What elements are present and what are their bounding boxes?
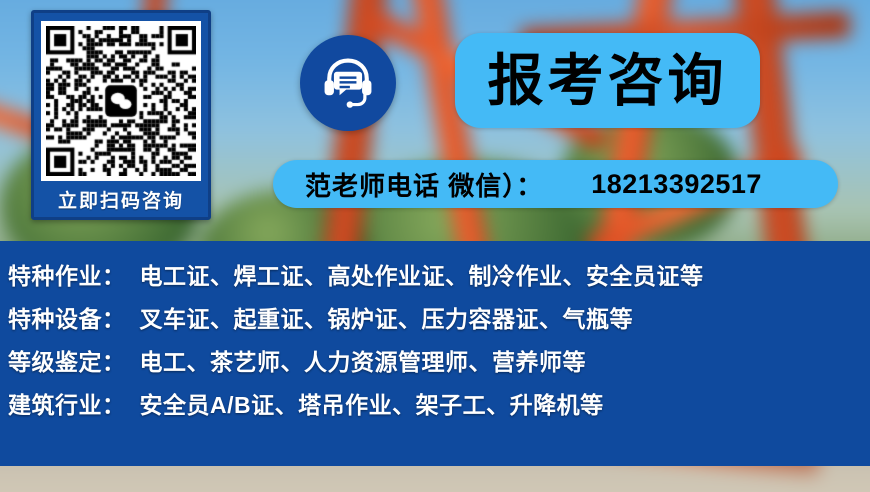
certificate-list-panel: 特种作业： 电工证、焊工证、高处作业证、制冷作业、安全员证等 特种设备： 叉车证… — [0, 241, 870, 466]
info-row-special-equipment: 特种设备： 叉车证、起重证、锅炉证、压力容器证、气瓶等 — [8, 300, 870, 334]
info-row-construction-industry: 建筑行业： 安全员A/B证、塔吊作业、架子工、升降机等 — [8, 386, 870, 420]
info-row-value: 电工、茶艺师、人力资源管理师、营养师等 — [140, 343, 587, 377]
page-title: 报考咨询 — [488, 53, 728, 109]
info-row-label: 建筑行业： — [8, 386, 126, 420]
info-row-label: 特种设备： — [8, 300, 126, 334]
contact-pill[interactable]: 范老师电话 微信）： 18213392517 — [273, 160, 838, 208]
headset-chat-icon — [300, 35, 396, 131]
promo-banner: 立即扫码咨询 报考咨询 范老师电话 微信）： 18213392517 特种作业：… — [0, 0, 870, 492]
info-row-label: 特种作业： — [8, 257, 126, 291]
contact-phone-number[interactable]: 18213392517 — [591, 169, 762, 200]
qr-code-card[interactable]: 立即扫码咨询 — [31, 10, 211, 220]
qr-code-image[interactable] — [41, 21, 201, 181]
info-row-label: 等级鉴定： — [8, 343, 126, 377]
title-pill: 报考咨询 — [455, 33, 760, 128]
info-row-value: 电工证、焊工证、高处作业证、制冷作业、安全员证等 — [140, 257, 704, 291]
qr-caption: 立即扫码咨询 — [58, 181, 184, 217]
info-row-special-operations: 特种作业： 电工证、焊工证、高处作业证、制冷作业、安全员证等 — [8, 257, 870, 291]
info-row-grade-assessment: 等级鉴定： 电工、茶艺师、人力资源管理师、营养师等 — [8, 343, 870, 377]
info-row-value: 叉车证、起重证、锅炉证、压力容器证、气瓶等 — [140, 300, 634, 334]
wechat-qr-code-icon[interactable] — [46, 26, 196, 176]
info-row-value: 安全员A/B证、塔吊作业、架子工、升降机等 — [140, 386, 604, 420]
contact-label: 范老师电话 微信）： — [305, 166, 543, 203]
